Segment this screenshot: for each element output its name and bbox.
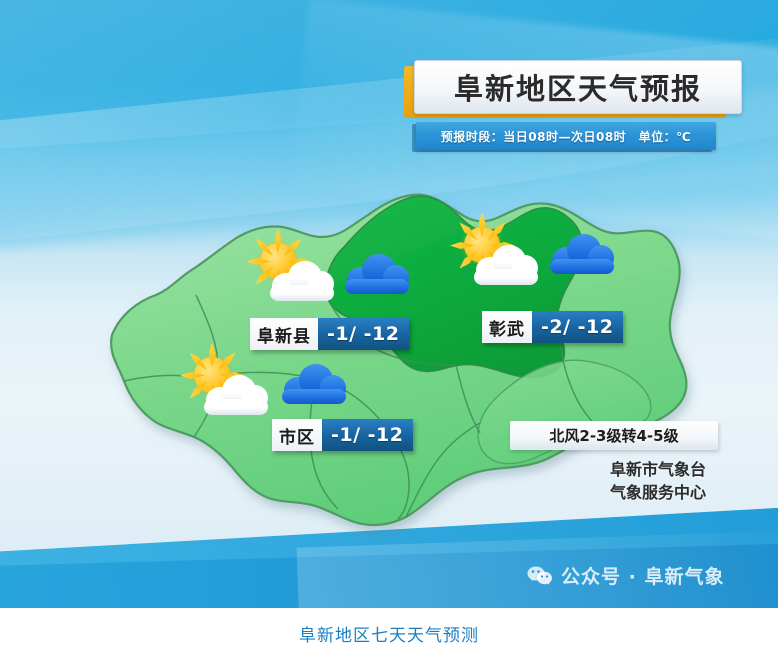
station-temperature: -1/ -12 [318,318,409,350]
issuer-line-1: 阜新市气象台 [510,458,706,481]
wind-forecast-text: 北风2-3级转4-5级 [549,425,678,446]
weather-icon-night-zhangwu [550,233,616,273]
sun-behind-cloud-icon [460,225,542,285]
subtitle-bar: 预报时段：当日08时—次日08时 单位：℃ [416,122,716,150]
weather-forecast-graphic: 阜新地区天气预报 预报时段：当日08时—次日08时 单位：℃ [0,0,778,608]
title-plate: 阜新地区天气预报 [414,60,742,114]
title-block: 阜新地区天气预报 预报时段：当日08时—次日08时 单位：℃ [404,60,740,156]
white-cloud [268,259,336,299]
station-temperature: -2/ -12 [532,311,623,343]
station-name: 市区 [272,419,322,451]
issuer-signature: 阜新市气象台 气象服务中心 [510,458,718,504]
weather-icon-night-urban-district [282,363,348,403]
station-tag-urban-district[interactable]: 市区 -1/ -12 [272,419,413,451]
weather-icons-zhangwu [460,225,542,285]
weather-icons-fuxin-county [256,241,338,301]
page-title: 阜新地区天气预报 [454,66,702,108]
issuer-line-2: 气象服务中心 [510,481,706,504]
watermark-text: 公众号 · 阜新气象 [561,562,724,589]
station-name: 彰武 [482,311,532,343]
wechat-icon [527,565,553,587]
station-tag-zhangwu[interactable]: 彰武 -2/ -12 [482,311,623,343]
caption-text: 阜新地区七天天气预测 [299,621,479,646]
cloudy-icon [282,363,348,403]
forecast-period-label: 预报时段：当日08时—次日08时 单位：℃ [441,128,691,145]
sun-behind-cloud-icon [190,355,272,415]
white-cloud [202,373,270,413]
watermark: 公众号 · 阜新气象 [527,562,724,589]
cloudy-icon [345,253,411,293]
station-tag-fuxin-county[interactable]: 阜新县 -1/ -12 [250,318,409,350]
weather-icon-night-fuxin-county [345,253,411,293]
station-name: 阜新县 [250,318,318,350]
cloudy-icon [550,233,616,273]
caption-bar: 阜新地区七天天气预测 [0,608,778,659]
white-cloud [472,243,540,283]
wind-forecast-box: 北风2-3级转4-5级 [510,421,718,450]
weather-icons-urban-district [190,355,272,415]
station-temperature: -1/ -12 [322,419,413,451]
sun-behind-cloud-icon [256,241,338,301]
